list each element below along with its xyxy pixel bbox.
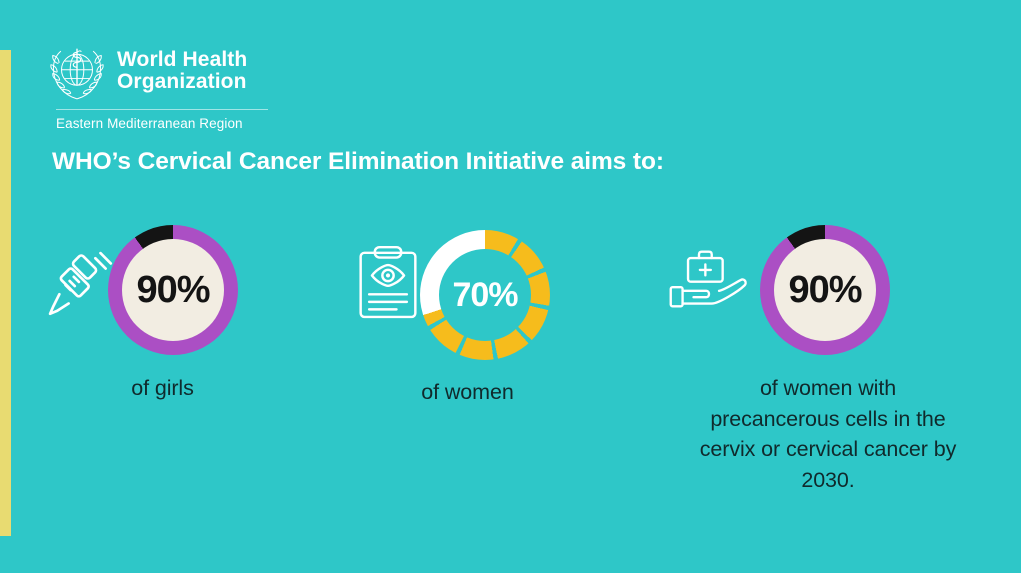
hand-medical-kit-icon xyxy=(668,247,750,316)
stat-girls-visual: 90% xyxy=(45,225,280,370)
stat-caption-girls: of girls xyxy=(45,373,280,404)
donut-chart-precancer: 90% xyxy=(760,225,890,355)
clipboard-eye-icon xyxy=(355,245,421,326)
donut-hole-girls: 90% xyxy=(122,239,224,341)
donut-hole-precancer: 90% xyxy=(774,239,876,341)
stat-group-precancer: 90% of women with precancerous cells in … xyxy=(665,225,990,370)
logo-divider xyxy=(56,109,268,110)
who-logo-row: World Health Organization xyxy=(46,40,306,102)
stat-caption-women: of women xyxy=(345,377,590,408)
stat-women-visual: 70% xyxy=(345,225,590,370)
donut-chart-girls: 90% xyxy=(108,225,238,355)
page-title: WHO’s Cervical Cancer Elimination Initia… xyxy=(52,148,664,176)
stat-group-women: 70% of women xyxy=(345,225,590,370)
stat-precancer-visual: 90% xyxy=(665,225,990,370)
donut-value-girls: 90% xyxy=(136,269,209,312)
left-accent-bar xyxy=(0,50,11,536)
who-emblem-icon xyxy=(46,40,108,102)
who-logo-block: World Health Organization Eastern Medite… xyxy=(46,40,306,131)
stat-caption-precancer: of women with precancerous cells in the … xyxy=(698,373,958,495)
who-region-label: Eastern Mediterranean Region xyxy=(56,116,306,131)
donut-value-women: 70% xyxy=(452,276,517,315)
who-wordmark-line2: Organization xyxy=(117,71,247,93)
infographic-canvas: World Health Organization Eastern Medite… xyxy=(0,0,1021,573)
who-wordmark-line1: World Health xyxy=(117,49,247,71)
donut-hole-women: 70% xyxy=(439,249,531,341)
donut-value-precancer: 90% xyxy=(788,269,861,312)
stat-group-girls: 90% of girls xyxy=(45,225,280,370)
who-wordmark: World Health Organization xyxy=(117,49,247,93)
donut-chart-women: 70% xyxy=(420,230,550,360)
